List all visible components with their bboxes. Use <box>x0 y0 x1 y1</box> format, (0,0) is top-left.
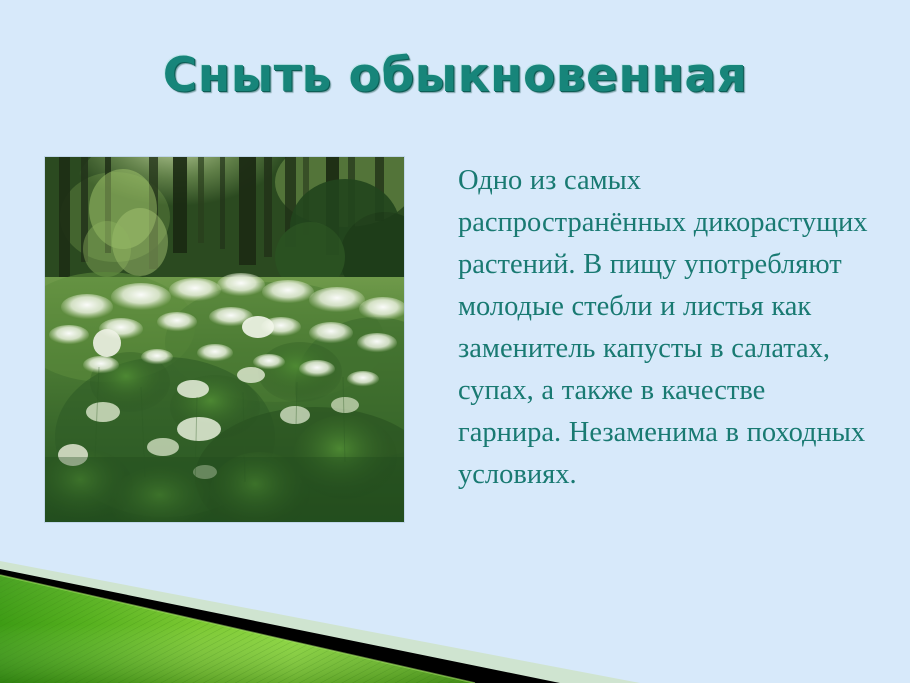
slide: Сныть обыкновенная <box>0 0 910 683</box>
green-band <box>0 553 910 683</box>
pale-green-stripe <box>0 561 640 683</box>
bottom-decoration <box>0 553 910 683</box>
plant-photo-image <box>45 157 404 522</box>
page-title: Сныть обыкновенная <box>0 48 910 103</box>
description-paragraph: Одно из самых распространённых дикорасту… <box>458 160 868 496</box>
plant-photo <box>45 157 404 522</box>
black-stripe <box>0 569 560 683</box>
